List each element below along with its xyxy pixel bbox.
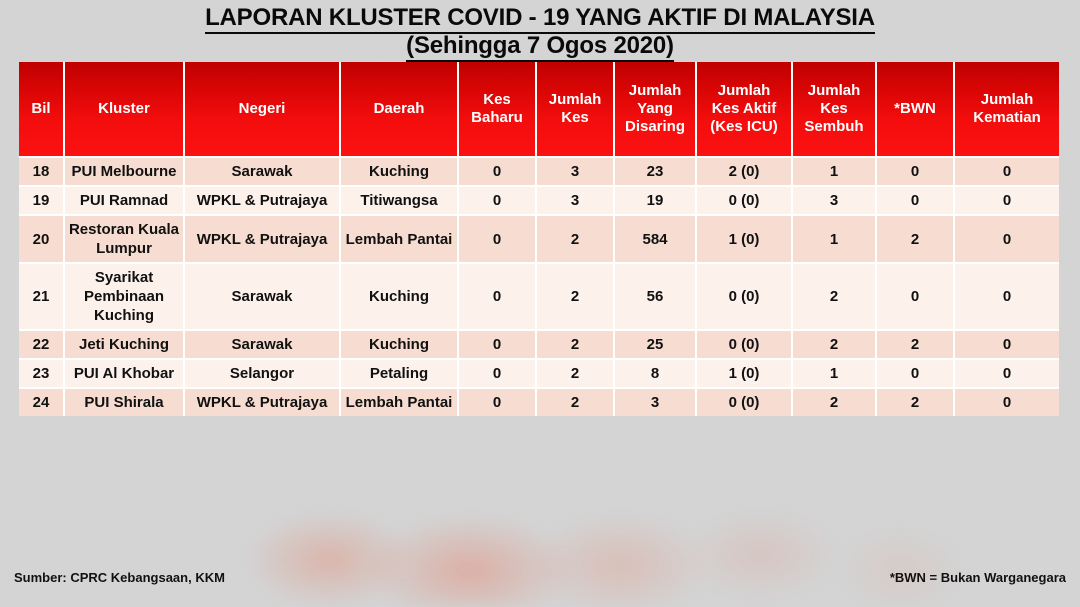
cell-jumlah-yang-disaring: 56: [615, 264, 697, 331]
table-row: 18PUI MelbourneSarawakKuching03232 (0)10…: [19, 158, 1059, 187]
cell-negeri: WPKL & Putrajaya: [185, 216, 341, 264]
cell-jumlah-kes: 3: [537, 187, 615, 216]
cell-jumlah-kematian: 0: [955, 216, 1059, 264]
cell-daerah: Kuching: [341, 264, 459, 331]
column-header-negeri: Negeri: [185, 62, 341, 158]
cell-bwn: 0: [877, 187, 955, 216]
cell-bil: 20: [19, 216, 65, 264]
table-row: 19PUI RamnadWPKL & PutrajayaTitiwangsa03…: [19, 187, 1059, 216]
cell-jumlah-yang-disaring: 8: [615, 360, 697, 389]
cell-kes-baharu: 0: [459, 389, 537, 416]
cluster-report-table-container: Bil Kluster Negeri Daerah KesBaharu Juml…: [19, 62, 1059, 416]
title-line-1: LAPORAN KLUSTER COVID - 19 YANG AKTIF DI…: [0, 4, 1080, 32]
cell-kes-baharu: 0: [459, 360, 537, 389]
column-header-kes-baharu: KesBaharu: [459, 62, 537, 158]
cell-jumlah-kes-sembuh: 1: [793, 360, 877, 389]
cell-kes-baharu: 0: [459, 158, 537, 187]
cell-jumlah-yang-disaring: 23: [615, 158, 697, 187]
cell-daerah: Kuching: [341, 331, 459, 360]
cell-bil: 19: [19, 187, 65, 216]
cell-jumlah-kes-sembuh: 2: [793, 389, 877, 416]
cell-jumlah-kematian: 0: [955, 389, 1059, 416]
cell-jumlah-kes-aktif: 1 (0): [697, 216, 793, 264]
table-row: 21Syarikat Pembinaan KuchingSarawakKuchi…: [19, 264, 1059, 331]
table-row: 20Restoran Kuala LumpurWPKL & PutrajayaL…: [19, 216, 1059, 264]
cell-jumlah-kes: 2: [537, 360, 615, 389]
cell-bil: 24: [19, 389, 65, 416]
cell-jumlah-yang-disaring: 3: [615, 389, 697, 416]
cell-kes-baharu: 0: [459, 216, 537, 264]
cell-kluster: Restoran Kuala Lumpur: [65, 216, 185, 264]
cell-bwn: 0: [877, 264, 955, 331]
cell-jumlah-kematian: 0: [955, 264, 1059, 331]
cell-daerah: Kuching: [341, 158, 459, 187]
footer: Sumber: CPRC Kebangsaan, KKM *BWN = Buka…: [0, 570, 1080, 600]
cell-jumlah-kematian: 0: [955, 331, 1059, 360]
cell-daerah: Lembah Pantai: [341, 216, 459, 264]
page-title: LAPORAN KLUSTER COVID - 19 YANG AKTIF DI…: [0, 4, 1080, 60]
cell-kluster: Jeti Kuching: [65, 331, 185, 360]
table-row: 24PUI ShiralaWPKL & PutrajayaLembah Pant…: [19, 389, 1059, 416]
cell-kluster: PUI Ramnad: [65, 187, 185, 216]
cell-bil: 23: [19, 360, 65, 389]
table-body: 18PUI MelbourneSarawakKuching03232 (0)10…: [19, 158, 1059, 416]
footer-legend: *BWN = Bukan Warganegara: [890, 570, 1066, 585]
column-header-daerah: Daerah: [341, 62, 459, 158]
cell-jumlah-kematian: 0: [955, 360, 1059, 389]
title-line-2-text: (Sehingga 7 Ogos 2020): [406, 32, 674, 62]
cell-jumlah-kes-sembuh: 1: [793, 158, 877, 187]
cell-daerah: Titiwangsa: [341, 187, 459, 216]
cell-jumlah-kes-aktif: 2 (0): [697, 158, 793, 187]
cell-negeri: Selangor: [185, 360, 341, 389]
cell-kluster: PUI Al Khobar: [65, 360, 185, 389]
cell-kluster: PUI Melbourne: [65, 158, 185, 187]
column-header-jumlah-kematian: JumlahKematian: [955, 62, 1059, 158]
cell-negeri: WPKL & Putrajaya: [185, 187, 341, 216]
cell-daerah: Petaling: [341, 360, 459, 389]
cell-jumlah-kematian: 0: [955, 158, 1059, 187]
cell-bil: 22: [19, 331, 65, 360]
cell-jumlah-kes-sembuh: 2: [793, 331, 877, 360]
cell-negeri: Sarawak: [185, 158, 341, 187]
cell-jumlah-kes-aktif: 0 (0): [697, 264, 793, 331]
column-header-jumlah-yang-disaring: JumlahYangDisaring: [615, 62, 697, 158]
column-header-jumlah-kes-sembuh: JumlahKesSembuh: [793, 62, 877, 158]
cell-jumlah-kes: 3: [537, 158, 615, 187]
column-header-kluster: Kluster: [65, 62, 185, 158]
cell-jumlah-kes: 2: [537, 264, 615, 331]
cell-jumlah-kes: 2: [537, 389, 615, 416]
cell-kes-baharu: 0: [459, 331, 537, 360]
cell-jumlah-kes-aktif: 0 (0): [697, 389, 793, 416]
cluster-report-table: Bil Kluster Negeri Daerah KesBaharu Juml…: [19, 62, 1059, 416]
table-header-row: Bil Kluster Negeri Daerah KesBaharu Juml…: [19, 62, 1059, 158]
cell-bwn: 2: [877, 389, 955, 416]
cell-jumlah-yang-disaring: 19: [615, 187, 697, 216]
cell-negeri: Sarawak: [185, 264, 341, 331]
cell-bwn: 0: [877, 158, 955, 187]
cell-jumlah-yang-disaring: 584: [615, 216, 697, 264]
cell-jumlah-kes-sembuh: 3: [793, 187, 877, 216]
cell-bwn: 2: [877, 331, 955, 360]
title-line-2: (Sehingga 7 Ogos 2020): [0, 32, 1080, 60]
cell-jumlah-kes: 2: [537, 216, 615, 264]
cell-kes-baharu: 0: [459, 264, 537, 331]
cell-kluster: PUI Shirala: [65, 389, 185, 416]
cell-jumlah-kes-aktif: 0 (0): [697, 187, 793, 216]
column-header-jumlah-kes-aktif: JumlahKes Aktif(Kes ICU): [697, 62, 793, 158]
cell-jumlah-kematian: 0: [955, 187, 1059, 216]
cell-kluster: Syarikat Pembinaan Kuching: [65, 264, 185, 331]
cell-bil: 21: [19, 264, 65, 331]
cell-negeri: Sarawak: [185, 331, 341, 360]
footer-source: Sumber: CPRC Kebangsaan, KKM: [14, 570, 225, 585]
cell-jumlah-yang-disaring: 25: [615, 331, 697, 360]
cell-negeri: WPKL & Putrajaya: [185, 389, 341, 416]
column-header-bil: Bil: [19, 62, 65, 158]
cell-bil: 18: [19, 158, 65, 187]
cell-jumlah-kes: 2: [537, 331, 615, 360]
cell-bwn: 2: [877, 216, 955, 264]
column-header-bwn: *BWN: [877, 62, 955, 158]
cell-daerah: Lembah Pantai: [341, 389, 459, 416]
table-row: 22Jeti KuchingSarawakKuching02250 (0)220: [19, 331, 1059, 360]
column-header-jumlah-kes: JumlahKes: [537, 62, 615, 158]
cell-jumlah-kes-aktif: 0 (0): [697, 331, 793, 360]
cell-bwn: 0: [877, 360, 955, 389]
cell-kes-baharu: 0: [459, 187, 537, 216]
cell-jumlah-kes-sembuh: 2: [793, 264, 877, 331]
cell-jumlah-kes-sembuh: 1: [793, 216, 877, 264]
table-header: Bil Kluster Negeri Daerah KesBaharu Juml…: [19, 62, 1059, 158]
cell-jumlah-kes-aktif: 1 (0): [697, 360, 793, 389]
table-row: 23PUI Al KhobarSelangorPetaling0281 (0)1…: [19, 360, 1059, 389]
title-line-1-text: LAPORAN KLUSTER COVID - 19 YANG AKTIF DI…: [205, 4, 875, 34]
